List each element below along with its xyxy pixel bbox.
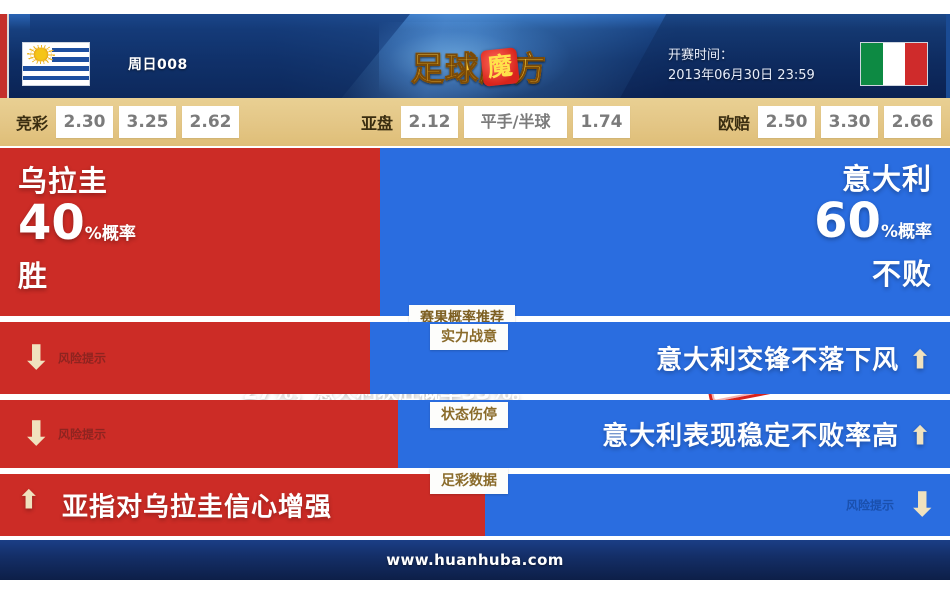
match-number: 周日008 [128,54,188,74]
fact-headline-text: 意大利交锋不落下风 [656,346,899,376]
down-arrow-icon: ⬇ [908,488,934,522]
fact-headline: 意大利表现稳定不败率高 ⬆ [602,416,932,453]
down-arrow-icon: ⬇ [22,417,48,451]
home-outcome-label: 胜 [18,259,136,293]
away-team-name: 意大利 [814,162,932,196]
site-logo: 足球魔方 魔 [403,38,555,90]
odds-label-oupei: 欧赔 [718,110,750,134]
risk-note: 风险提示 [846,497,894,514]
section-badge-strength: 实力战意 [430,324,508,350]
away-probability-number: 60 [814,193,881,249]
away-outcome-label: 不败 [814,257,932,291]
fact-headline: ⬆ 亚指对乌拉圭信心增强 [62,487,332,524]
odds-group-oupei: 欧赔 2.50 3.30 2.66 [702,106,947,138]
section-badge-data: 足彩数据 [430,468,508,494]
probability-panel: 乌拉圭 40%概率 胜 意大利 60%概率 不败 本场比赛乌拉圭获胜概率40%，… [0,148,950,316]
up-arrow-icon: ⬆ [909,346,932,376]
odds-value[interactable]: 2.30 [56,106,113,138]
footer-bar: www.huanhuba.com [0,540,950,580]
logo-text: 足球魔方 [403,42,555,90]
down-arrow-icon: ⬇ [22,341,48,375]
odds-value[interactable]: 1.74 [573,106,630,138]
site-url[interactable]: www.huanhuba.com [0,551,950,569]
fact-headline-text: 意大利表现稳定不败率高 [602,422,899,452]
header-right-accent [946,14,950,98]
home-probability-suffix: %概率 [85,224,136,244]
risk-note: 风险提示 [58,426,106,443]
odds-bar: 竞彩 2.30 3.25 2.62 亚盘 2.12 平手/半球 1.74 欧赔 … [0,98,950,146]
odds-value[interactable]: 3.25 [119,106,176,138]
logo-accent-char: 魔 [480,47,520,87]
odds-label-yapan: 亚盘 [361,110,393,134]
up-arrow-icon: ⬆ [18,486,41,516]
top-margin [0,0,950,14]
fact-headline: 意大利交锋不落下风 ⬆ [656,340,932,377]
odds-handicap[interactable]: 平手/半球 [464,106,567,138]
odds-value[interactable]: 2.66 [884,106,941,138]
odds-group-yapan: 亚盘 2.12 平手/半球 1.74 [345,106,636,138]
infographic-root: 周日008 足球魔方 魔 开赛时间： 2013年06月30日 23:59 竞彩 … [0,0,950,594]
kickoff-value: 2013年06月30日 23:59 [668,66,815,86]
away-probability-value: 60%概率 [814,196,932,257]
match-header: 周日008 足球魔方 魔 开赛时间： 2013年06月30日 23:59 [0,14,950,98]
fact-headline-text: 亚指对乌拉圭信心增强 [62,493,332,523]
up-arrow-icon: ⬆ [909,422,932,452]
away-probability-suffix: %概率 [881,222,932,242]
bottom-margin [0,580,950,594]
section-badge-form: 状态伤停 [430,402,508,428]
odds-value[interactable]: 2.12 [401,106,458,138]
kickoff-time-block: 开赛时间： 2013年06月30日 23:59 [668,46,815,86]
home-team-name: 乌拉圭 [18,164,136,198]
risk-note: 风险提示 [58,350,106,367]
odds-group-jingcai: 竞彩 2.30 3.25 2.62 [0,106,245,138]
home-team-block: 乌拉圭 40%概率 胜 [18,164,136,293]
uruguay-flag-icon [22,42,90,86]
odds-value[interactable]: 2.62 [182,106,239,138]
kickoff-label: 开赛时间： [668,46,815,66]
fact-row-red-half [0,322,370,394]
home-probability-number: 40 [18,195,85,251]
odds-label-jingcai: 竞彩 [16,110,48,134]
away-team-block: 意大利 60%概率 不败 [814,162,932,291]
odds-value[interactable]: 2.50 [758,106,815,138]
header-left-accent [0,14,7,98]
home-probability-value: 40%概率 [18,198,136,259]
header-left-divider [7,14,9,98]
odds-value[interactable]: 3.30 [821,106,878,138]
italy-flag-icon [860,42,928,86]
